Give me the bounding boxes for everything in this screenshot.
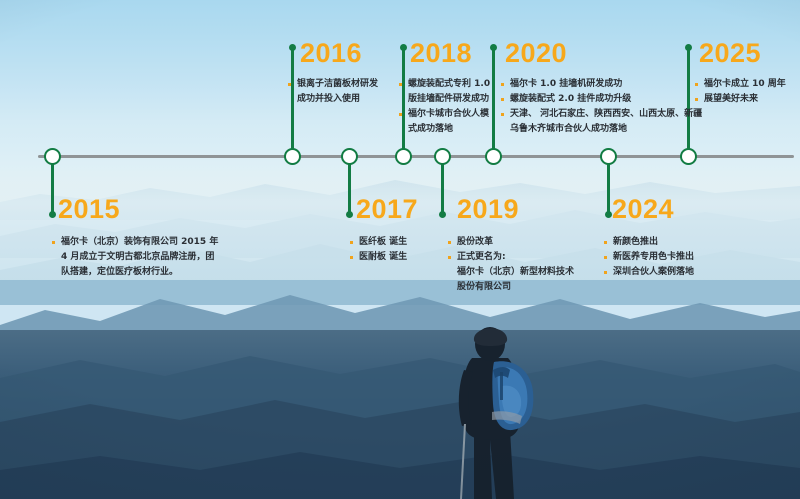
timeline-stem-2019	[441, 157, 444, 214]
timeline-infographic: 2015福尔卡（北京）装饰有限公司 2015 年4 月成立于文明古都北京品牌注册…	[0, 0, 800, 499]
timeline-stem-2020	[492, 48, 495, 153]
event-item: 福尔卡 1.0 挂墙机研发成功	[501, 77, 702, 92]
event-item: 福尔卡（北京）装饰有限公司 2015 年	[52, 235, 218, 250]
event-item: 医耐板 诞生	[350, 250, 407, 265]
event-list-2020: 福尔卡 1.0 挂墙机研发成功螺旋装配式 2.0 挂件成功升级天津、 河北石家庄…	[501, 70, 702, 137]
bullet-list-2020: 福尔卡 1.0 挂墙机研发成功螺旋装配式 2.0 挂件成功升级天津、 河北石家庄…	[501, 77, 702, 137]
event-item: 式成功落地	[399, 122, 490, 137]
year-label-2020: 2020	[505, 40, 567, 67]
event-item: 股份有限公司	[448, 280, 574, 295]
event-item: 天津、 河北石家庄、陕西西安、山西太原、新疆	[501, 107, 702, 122]
timeline-node-2019[interactable]	[434, 148, 451, 165]
event-item: 医纤板 诞生	[350, 235, 407, 250]
event-item: 福尔卡城市合伙人模	[399, 107, 490, 122]
timeline-stem-2024	[607, 157, 610, 214]
timeline-stem-2015	[51, 157, 54, 214]
bullet-list-2017: 医纤板 诞生医耐板 诞生	[350, 235, 407, 265]
bullet-list-2018: 螺旋装配式专利 1.0版挂墙配件研发成功福尔卡城市合伙人模式成功落地	[399, 77, 490, 137]
event-item: 深圳合伙人案例落地	[604, 265, 694, 280]
event-item: 队搭建，定位医疗板材行业。	[52, 265, 218, 280]
year-label-2016: 2016	[300, 40, 362, 67]
event-item: 银离子洁菌板材研发	[288, 77, 378, 92]
event-item: 乌鲁木齐城市合伙人成功落地	[501, 122, 702, 137]
bullet-list-2024: 新颜色推出新医养专用色卡推出深圳合伙人案例落地	[604, 235, 694, 280]
timeline-node-2015[interactable]	[44, 148, 61, 165]
event-item: 福尔卡（北京）新型材料技术	[448, 265, 574, 280]
event-item: 新医养专用色卡推出	[604, 250, 694, 265]
event-list-2018: 螺旋装配式专利 1.0版挂墙配件研发成功福尔卡城市合伙人模式成功落地	[399, 70, 490, 137]
bullet-list-2019: 股份改革正式更名为:福尔卡（北京）新型材料技术股份有限公司	[448, 235, 574, 295]
foreground-mountain	[0, 300, 800, 499]
year-label-2015: 2015	[58, 196, 120, 223]
event-item: 新颜色推出	[604, 235, 694, 250]
event-list-2017: 医纤板 诞生医耐板 诞生	[350, 228, 407, 265]
year-label-2024: 2024	[612, 196, 674, 223]
event-item: 展望美好未来	[695, 92, 786, 107]
event-list-2025: 福尔卡成立 10 周年展望美好未来	[695, 70, 786, 107]
bullet-list-2025: 福尔卡成立 10 周年展望美好未来	[695, 77, 786, 107]
event-item: 螺旋装配式专利 1.0	[399, 77, 490, 92]
timeline-node-2017[interactable]	[341, 148, 358, 165]
event-list-2019: 股份改革正式更名为:福尔卡（北京）新型材料技术股份有限公司	[448, 228, 574, 295]
timeline-node-2016[interactable]	[284, 148, 301, 165]
year-label-2025: 2025	[699, 40, 761, 67]
event-item: 福尔卡成立 10 周年	[695, 77, 786, 92]
event-item: 股份改革	[448, 235, 574, 250]
year-label-2018: 2018	[410, 40, 472, 67]
timeline-stem-2017	[348, 157, 351, 214]
bullet-list-2016: 银离子洁菌板材研发成功并投入使用	[288, 77, 378, 107]
event-list-2015: 福尔卡（北京）装饰有限公司 2015 年4 月成立于文明古都北京品牌注册，团队搭…	[52, 228, 218, 280]
event-item: 版挂墙配件研发成功	[399, 92, 490, 107]
event-item: 螺旋装配式 2.0 挂件成功升级	[501, 92, 702, 107]
event-list-2016: 银离子洁菌板材研发成功并投入使用	[288, 70, 378, 107]
event-item: 成功并投入使用	[288, 92, 378, 107]
event-list-2024: 新颜色推出新医养专用色卡推出深圳合伙人案例落地	[604, 228, 694, 280]
year-label-2019: 2019	[457, 196, 519, 223]
bullet-list-2015: 福尔卡（北京）装饰有限公司 2015 年4 月成立于文明古都北京品牌注册，团队搭…	[52, 235, 218, 280]
event-item: 4 月成立于文明古都北京品牌注册，团	[52, 250, 218, 265]
year-label-2017: 2017	[356, 196, 418, 223]
timeline-node-2020[interactable]	[485, 148, 502, 165]
timeline-node-2018[interactable]	[395, 148, 412, 165]
timeline-node-2024[interactable]	[600, 148, 617, 165]
event-item: 正式更名为:	[448, 250, 574, 265]
timeline-node-2025[interactable]	[680, 148, 697, 165]
